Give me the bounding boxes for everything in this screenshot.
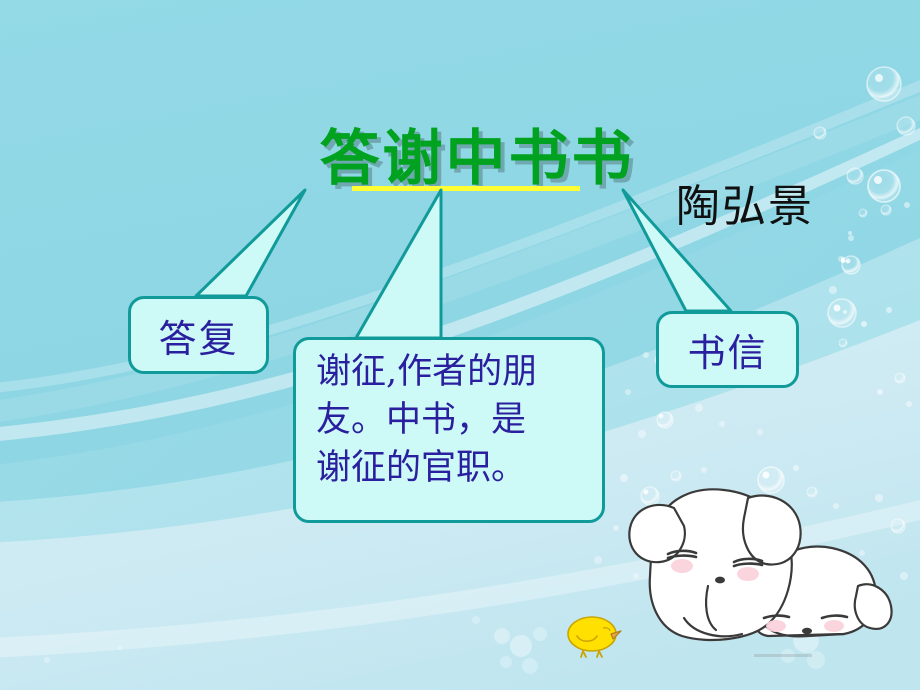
callout-box-xiezheng[interactable]: 谢征,作者的朋 友。中书，是 谢征的官职。 <box>293 337 605 523</box>
callout-left-label: 答复 <box>158 308 238 363</box>
tail-center <box>356 190 441 338</box>
two-white-bunnies-illustration <box>608 468 898 668</box>
yellow-chick-illustration <box>563 612 623 660</box>
page-title: 答谢中书书 <box>272 126 682 192</box>
callout-center-label: 谢征,作者的朋 友。中书，是 谢征的官职。 <box>316 348 537 492</box>
slide-title-block: 答谢中书书 <box>272 126 682 198</box>
callout-box-answer[interactable]: 答复 <box>128 296 269 374</box>
author-name: 陶弘景 <box>676 181 814 233</box>
callout-box-letter[interactable]: 书信 <box>656 311 799 388</box>
slide-canvas: 答谢中书书 陶弘景 答复 谢征,作者的朋 友。中书，是 谢征的官职。 书信 <box>0 0 920 690</box>
title-underline <box>352 186 580 191</box>
callout-right-label: 书信 <box>687 322 767 377</box>
tail-left <box>196 190 305 296</box>
